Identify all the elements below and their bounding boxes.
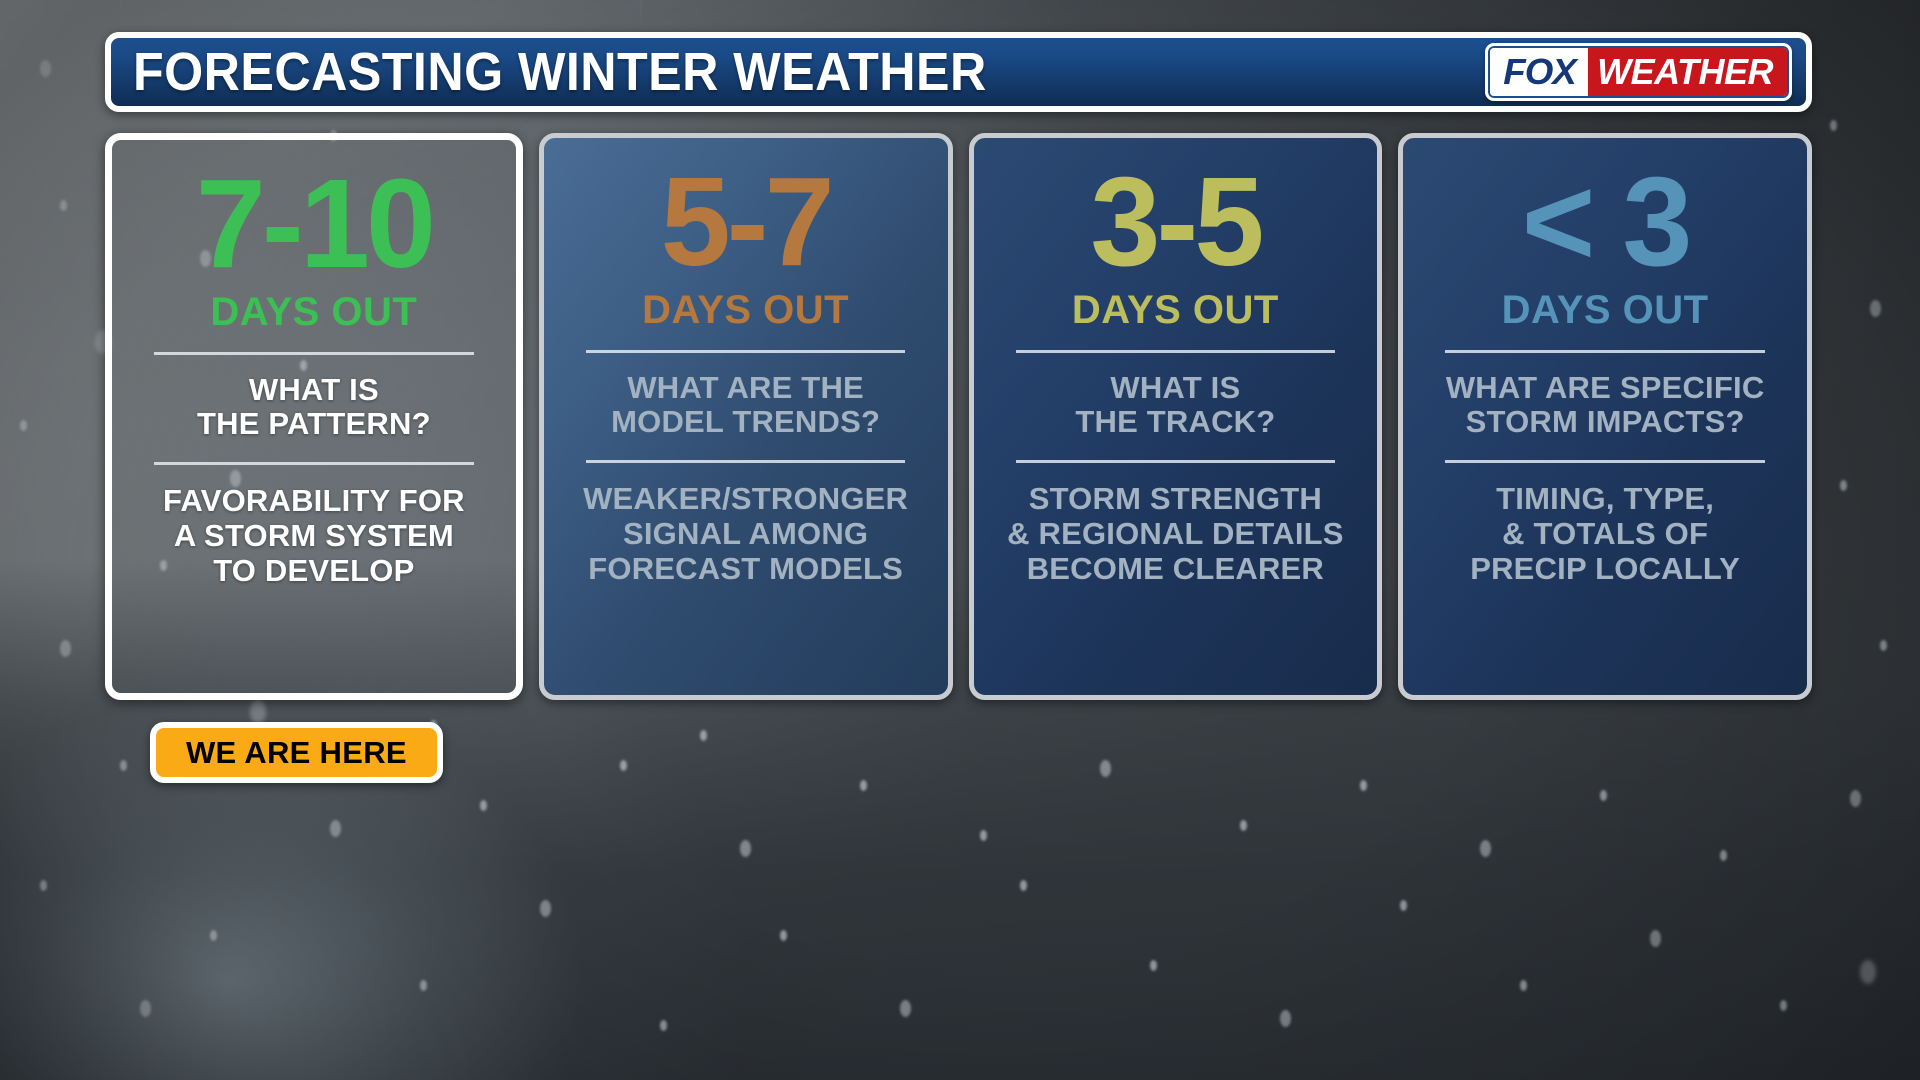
card-divider-bottom xyxy=(586,460,906,463)
card-divider-top xyxy=(1445,350,1765,353)
fox-weather-logo: FOX WEATHER xyxy=(1485,43,1792,101)
card-days-out-label: DAYS OUT xyxy=(1502,290,1709,330)
card-detail: WEAKER/STRONGERSIGNAL AMONGFORECAST MODE… xyxy=(583,481,908,596)
card-detail-line-2: & REGIONAL DETAILS xyxy=(1007,516,1344,551)
card-detail: FAVORABILITY FORA STORM SYSTEMTO DEVELOP xyxy=(163,483,465,598)
card-question: WHAT ISTHE PATTERN? xyxy=(197,373,431,442)
weather-wordmark: WEATHER xyxy=(1587,48,1787,96)
page-title: FORECASTING WINTER WEATHER xyxy=(133,45,987,99)
card-detail-line-1: TIMING, TYPE, xyxy=(1470,481,1740,516)
card-detail-line-2: & TOTALS OF xyxy=(1470,516,1740,551)
card-days-out-label: DAYS OUT xyxy=(210,292,417,332)
card-detail-line-3: TO DEVELOP xyxy=(163,553,465,588)
card-detail-line-1: STORM STRENGTH xyxy=(1007,481,1344,516)
card-divider-bottom xyxy=(154,462,474,465)
card-range-number: 3-5 xyxy=(1090,162,1260,282)
forecast-card-2[interactable]: 5-7DAYS OUTWHAT ARE THEMODEL TRENDS?WEAK… xyxy=(539,133,953,700)
card-detail-line-3: BECOME CLEARER xyxy=(1007,551,1344,586)
card-divider-bottom xyxy=(1016,460,1336,463)
card-detail-line-2: A STORM SYSTEM xyxy=(163,518,465,553)
card-detail-line-3: FORECAST MODELS xyxy=(583,551,908,586)
card-divider-bottom xyxy=(1445,460,1765,463)
card-detail: TIMING, TYPE,& TOTALS OFPRECIP LOCALLY xyxy=(1470,481,1740,596)
card-detail: STORM STRENGTH& REGIONAL DETAILSBECOME C… xyxy=(1007,481,1344,596)
we-are-here-badge: WE ARE HERE xyxy=(150,722,443,783)
card-divider-top xyxy=(1016,350,1336,353)
card-question-line-2: THE PATTERN? xyxy=(197,407,431,442)
weather-graphic-stage: FORECASTING WINTER WEATHER FOX WEATHER 7… xyxy=(0,0,1920,1080)
card-question-line-1: WHAT IS xyxy=(1075,371,1275,406)
card-days-out-label: DAYS OUT xyxy=(642,290,849,330)
forecast-card-4[interactable]: < 3DAYS OUTWHAT ARE SPECIFICSTORM IMPACT… xyxy=(1398,133,1812,700)
card-divider-top xyxy=(154,352,474,355)
fox-wordmark: FOX xyxy=(1489,48,1588,96)
card-days-out-label: DAYS OUT xyxy=(1072,290,1279,330)
forecast-card-3[interactable]: 3-5DAYS OUTWHAT ISTHE TRACK?STORM STRENG… xyxy=(969,133,1383,700)
card-divider-top xyxy=(586,350,906,353)
card-question-line-2: STORM IMPACTS? xyxy=(1446,405,1765,440)
card-question: WHAT ISTHE TRACK? xyxy=(1075,371,1275,440)
fox-weather-logo-inner: FOX WEATHER xyxy=(1488,46,1789,98)
card-question-line-1: WHAT IS xyxy=(197,373,431,408)
card-range-number: < 3 xyxy=(1522,162,1689,282)
card-range-number: 7-10 xyxy=(196,164,432,284)
card-detail-line-1: FAVORABILITY FOR xyxy=(163,483,465,518)
card-detail-line-1: WEAKER/STRONGER xyxy=(583,481,908,516)
card-detail-line-2: SIGNAL AMONG xyxy=(583,516,908,551)
card-detail-line-3: PRECIP LOCALLY xyxy=(1470,551,1740,586)
card-question: WHAT ARE SPECIFICSTORM IMPACTS? xyxy=(1446,371,1765,440)
card-range-number: 5-7 xyxy=(661,162,831,282)
card-question: WHAT ARE THEMODEL TRENDS? xyxy=(611,371,880,440)
card-question-line-1: WHAT ARE SPECIFIC xyxy=(1446,371,1765,406)
card-question-line-2: THE TRACK? xyxy=(1075,405,1275,440)
card-question-line-2: MODEL TRENDS? xyxy=(611,405,880,440)
forecast-card-1[interactable]: 7-10DAYS OUTWHAT ISTHE PATTERN?FAVORABIL… xyxy=(105,133,523,700)
card-question-line-1: WHAT ARE THE xyxy=(611,371,880,406)
forecast-timeline-cards: 7-10DAYS OUTWHAT ISTHE PATTERN?FAVORABIL… xyxy=(105,133,1812,700)
header-bar: FORECASTING WINTER WEATHER FOX WEATHER xyxy=(105,32,1812,112)
